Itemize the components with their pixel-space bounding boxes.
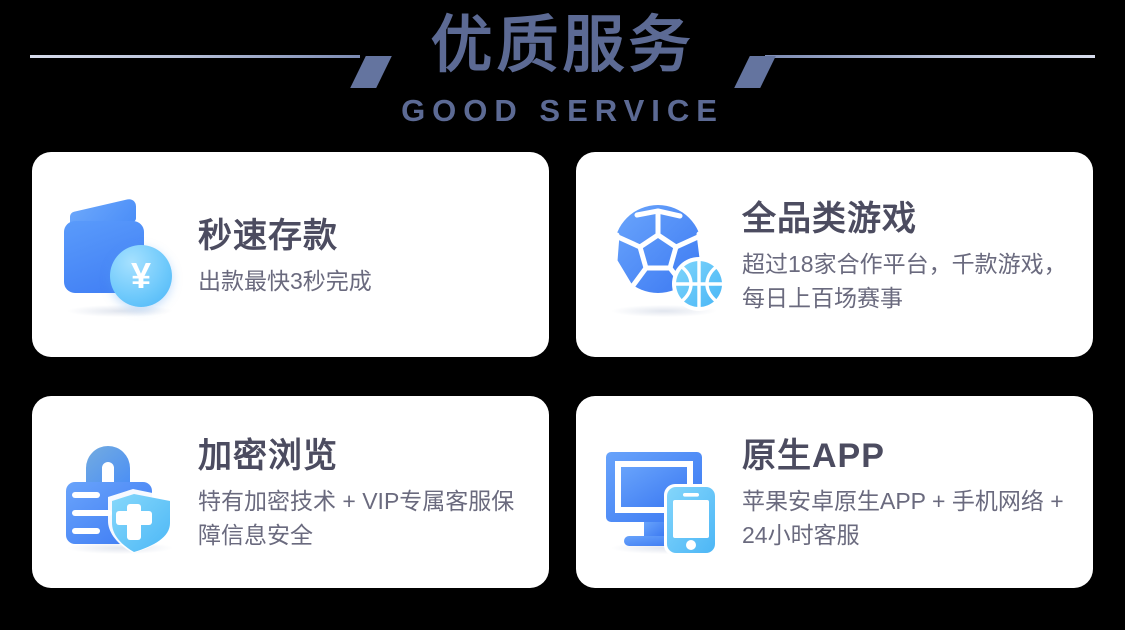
desktop-monitor-icon [602, 428, 730, 556]
icon-shadow [68, 305, 172, 317]
service-card-native-app[interactable]: 原生APP 苹果安卓原生APP + 手机网络 + 24小时客服 [576, 396, 1093, 588]
card-text-column: 秒速存款 出款最快3秒完成 [198, 212, 527, 298]
card-description: 特有加密技术 + VIP专属客服保障信息安全 [198, 484, 527, 552]
page-subtitle: GOOD SERVICE [0, 94, 1125, 128]
header-title-block: 优质服务 GOOD SERVICE [0, 0, 1125, 128]
mobile-phone-icon [664, 484, 718, 556]
card-text-column: 全品类游戏 超过18家合作平台，千款游戏，每日上百场赛事 [742, 195, 1071, 315]
service-card-all-games[interactable]: 全品类游戏 超过18家合作平台，千款游戏，每日上百场赛事 [576, 152, 1093, 357]
card-description: 超过18家合作平台，千款游戏，每日上百场赛事 [742, 247, 1071, 315]
page-header: 优质服务 GOOD SERVICE [0, 0, 1125, 148]
monitor-phone-icon [602, 428, 730, 556]
card-description: 出款最快3秒完成 [198, 264, 527, 298]
service-card-encrypted-browsing[interactable]: 加密浏览 特有加密技术 + VIP专属客服保障信息安全 [32, 396, 549, 588]
soccer-basketball-icon [602, 191, 730, 319]
card-title: 原生APP [742, 434, 1071, 478]
card-title: 加密浏览 [198, 434, 527, 478]
soccer-ball-icon [602, 191, 730, 319]
card-title: 全品类游戏 [742, 197, 1071, 241]
lock-shield-icon [58, 428, 186, 556]
service-card-instant-deposit[interactable]: ¥ 秒速存款 出款最快3秒完成 [32, 152, 549, 357]
card-text-column: 原生APP 苹果安卓原生APP + 手机网络 + 24小时客服 [742, 432, 1071, 552]
card-title: 秒速存款 [198, 214, 527, 258]
yen-coin-icon: ¥ [110, 245, 172, 307]
card-description: 苹果安卓原生APP + 手机网络 + 24小时客服 [742, 484, 1071, 552]
card-text-column: 加密浏览 特有加密技术 + VIP专属客服保障信息安全 [198, 432, 527, 552]
service-card-grid: ¥ 秒速存款 出款最快3秒完成 [32, 152, 1093, 588]
wallet-yen-icon: ¥ [58, 191, 186, 319]
page-title: 优质服务 [0, 0, 1125, 92]
padlock-icon [58, 428, 186, 556]
